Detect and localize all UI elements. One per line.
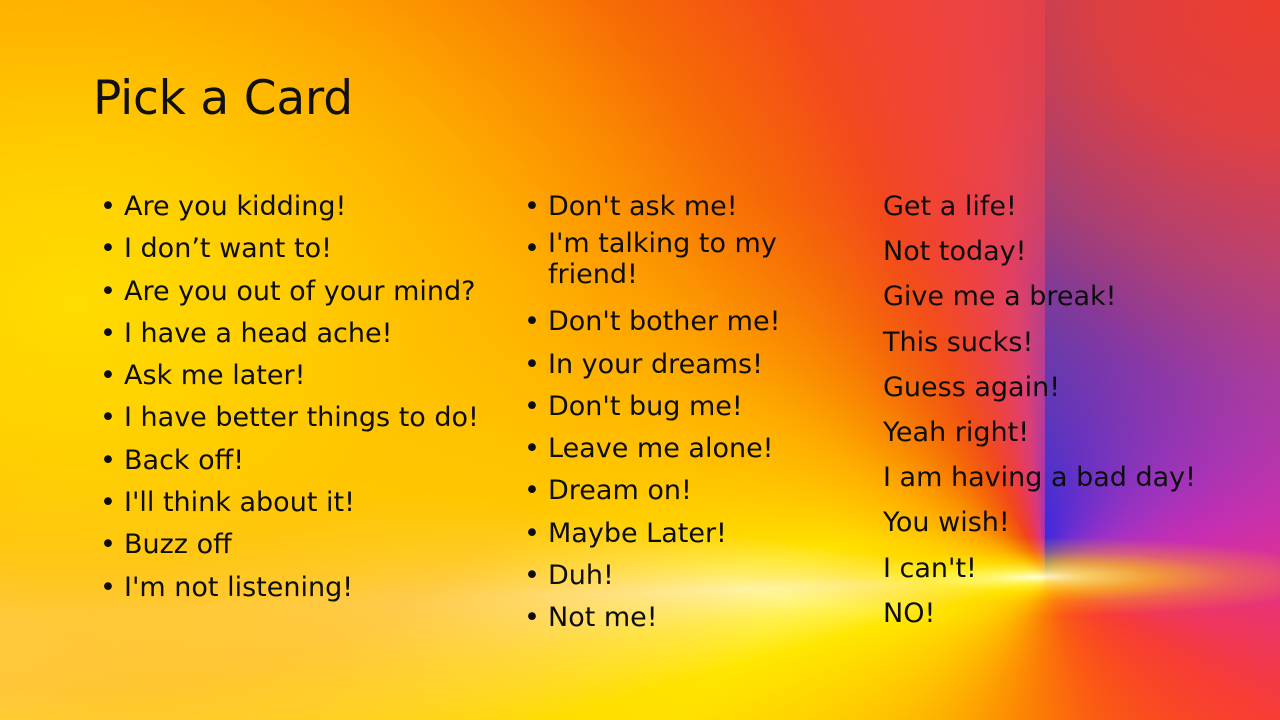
slide-content: Pick a Card •Are you kidding!•I don’t wa… [0,0,1280,720]
text-line: Not today! [883,229,1273,274]
bullet-item-label: I have better things to do! [124,402,479,433]
bullet-dot-icon: • [524,186,540,228]
bullet-dot-icon: • [100,524,116,566]
bullet-item-label: Dream on! [548,475,692,506]
bullet-item-label: I have a head ache! [124,318,392,349]
bullet-item: •I'll think about it! [97,482,497,524]
bullet-item-label: Are you kidding! [124,191,346,222]
bullet-item: •Buzz off [97,524,497,566]
text-line: Yeah right! [883,410,1273,455]
text-line: Get a life! [883,184,1273,229]
bullet-dot-icon: • [524,344,540,386]
text-line: This sucks! [883,320,1273,365]
bullet-item-label: I'll think about it! [124,487,355,518]
bullet-item: •Don't bother me! [521,301,851,343]
bullet-dot-icon: • [100,397,116,439]
bullet-item: •Duh! [521,555,851,597]
bullet-dot-icon: • [100,186,116,228]
bullet-item: •Not me! [521,597,851,639]
text-line: You wish! [883,500,1273,545]
bullet-item-label: Leave me alone! [548,433,774,464]
bullet-item: •Dream on! [521,470,851,512]
bullet-item-label: I don’t want to! [124,233,332,264]
bullet-item: •Back off! [97,440,497,482]
text-line: I am having a bad day! [883,455,1273,500]
bullet-item: •I'm talking to my friend! [521,228,851,301]
bullet-item-label: Don't bother me! [548,306,780,337]
bullet-dot-icon: • [524,513,540,555]
bullet-item: •Ask me later! [97,355,497,397]
bullet-list-2: •Don't ask me!•I'm talking to my friend!… [521,186,851,640]
bullet-item-label: I'm not listening! [124,572,353,603]
bullet-dot-icon: • [100,355,116,397]
text-line: I can't! [883,546,1273,591]
page-title: Pick a Card [93,73,353,125]
bullet-item: •Are you kidding! [97,186,497,228]
bullet-item: •Don't ask me! [521,186,851,228]
bullet-dot-icon: • [100,228,116,270]
bullet-list-1: •Are you kidding!•I don’t want to!•Are y… [97,186,497,609]
bullet-item: •I'm not listening! [97,567,497,609]
bullet-dot-icon: • [524,428,540,470]
presentation-slide: Pick a Card •Are you kidding!•I don’t wa… [0,0,1280,720]
bullet-item-label: Not me! [548,602,658,633]
bullet-item-label: In your dreams! [548,349,763,380]
text-line: Give me a break! [883,274,1273,319]
bullet-dot-icon: • [524,597,540,639]
bullet-item-label: Maybe Later! [548,518,727,549]
bullet-item: •Are you out of your mind? [97,271,497,313]
text-line: Guess again! [883,365,1273,410]
bullet-dot-icon: • [524,386,540,428]
bullet-dot-icon: • [524,301,540,343]
bullet-item-label: Don't ask me! [548,191,738,222]
bullet-item-label: I'm talking to my friend! [548,228,777,290]
bullet-item-label: Are you out of your mind? [124,276,475,307]
bullet-item-label: Back off! [124,445,244,476]
bullet-column-1: •Are you kidding!•I don’t want to!•Are y… [97,186,497,609]
bullet-item: •Leave me alone! [521,428,851,470]
bullet-dot-icon: • [100,440,116,482]
bullet-item-label: Buzz off [124,529,232,560]
bullet-dot-icon: • [524,555,540,597]
bullet-item-label: Ask me later! [124,360,305,391]
bullet-dot-icon: • [100,482,116,524]
text-column-3: Get a life!Not today!Give me a break!Thi… [883,184,1273,636]
bullet-item: •Don't bug me! [521,386,851,428]
bullet-dot-icon: • [100,567,116,609]
bullet-item: •Maybe Later! [521,513,851,555]
plain-list-3: Get a life!Not today!Give me a break!Thi… [883,184,1273,636]
bullet-item: •I have a head ache! [97,313,497,355]
bullet-item-label: Don't bug me! [548,391,743,422]
bullet-dot-icon: • [524,470,540,512]
bullet-dot-icon: • [100,271,116,313]
bullet-column-2: •Don't ask me!•I'm talking to my friend!… [521,186,851,640]
bullet-item: •In your dreams! [521,344,851,386]
text-line: NO! [883,591,1273,636]
bullet-dot-icon: • [100,313,116,355]
bullet-item-label: Duh! [548,560,614,591]
bullet-item: •I have better things to do! [97,397,497,439]
bullet-dot-icon: • [524,228,540,270]
bullet-item: •I don’t want to! [97,228,497,270]
